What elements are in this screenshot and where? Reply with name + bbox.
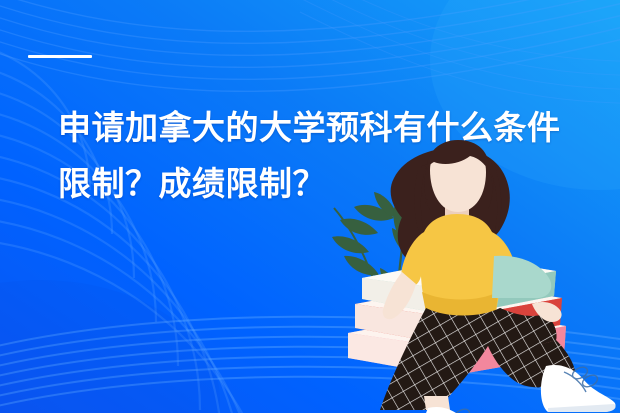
cushion — [492, 256, 551, 298]
hero-illustration — [318, 140, 620, 413]
shoe-lower — [423, 407, 498, 413]
title-accent-rule — [28, 55, 92, 58]
shoe-upper — [541, 365, 616, 412]
article-cover-banner: 申请加拿大的大学预科有什么条件限制？成绩限制？ — [0, 0, 620, 413]
woman-figure — [380, 140, 616, 413]
